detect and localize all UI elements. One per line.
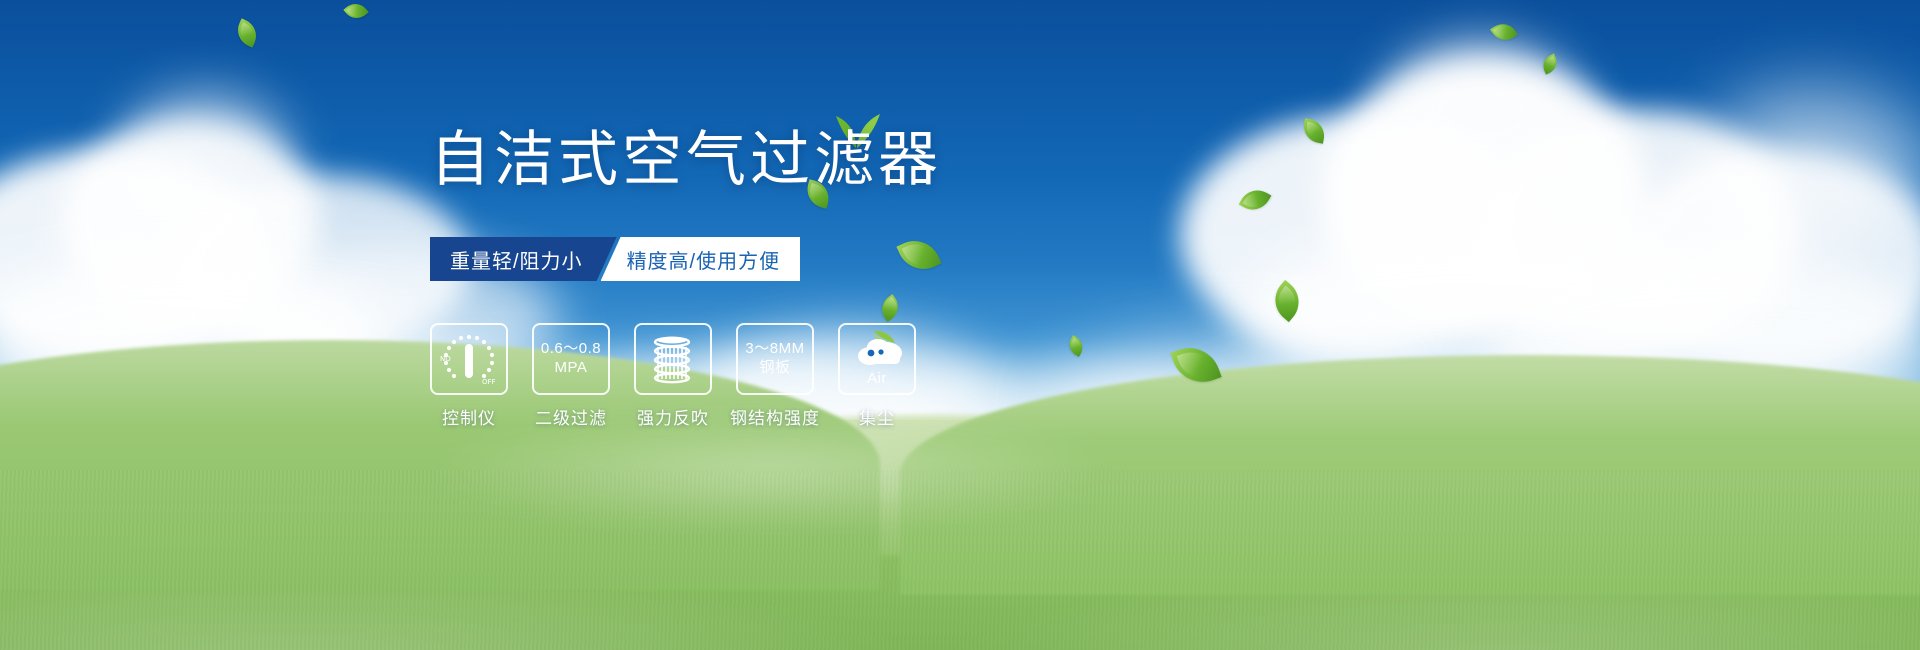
feature-box: 3～8MM 钢板 [736,323,814,395]
feature-list: NO OFF 控制仪 0.6～0.8 MPA 二级过滤 [430,323,916,429]
feature-item-controller[interactable]: NO OFF 控制仪 [430,323,508,429]
gauge-label-no: NO [440,355,451,363]
feature-box-line1: 3～8MM [745,340,804,359]
feature-caption: 强力反吹 [637,404,709,429]
banner-content: 自洁式空气过滤器 重量轻/阻力小 精度高/使用方便 [0,0,1920,650]
subtitle-tag-left: 重量轻/阻力小 [430,237,617,281]
feature-caption: 二级过滤 [535,404,607,429]
feature-item-backblow[interactable]: 强力反吹 [634,323,712,429]
subtitle-bar: 重量轻/阻力小 精度高/使用方便 [430,237,800,281]
feature-box-line2: MPA [555,359,588,378]
feature-box-line1: 0.6～0.8 [541,340,601,359]
feature-item-dust[interactable]: Air 集尘 [838,323,916,429]
feature-caption: 集尘 [859,404,895,429]
feature-caption: 钢结构强度 [730,404,820,429]
feature-box-line2: 钢板 [759,359,790,378]
feature-box: 0.6～0.8 MPA [532,323,610,395]
feature-box [634,323,712,395]
banner-stage: 自洁式空气过滤器 重量轻/阻力小 精度高/使用方便 [0,0,1920,650]
feature-item-pressure[interactable]: 0.6～0.8 MPA 二级过滤 [532,323,610,429]
cloud-air-icon [848,329,906,369]
feature-box-air-label: Air [867,370,887,389]
page-title: 自洁式空气过滤器 [430,130,942,190]
gauge-label-off: OFF [482,378,496,386]
gauge-dial-icon: NO OFF [438,330,500,388]
filter-cartridge-icon [648,331,698,387]
feature-caption: 控制仪 [442,404,496,429]
subtitle-tag-right: 精度高/使用方便 [601,237,801,281]
feature-box: NO OFF [430,323,508,395]
feature-item-steel[interactable]: 3～8MM 钢板 钢结构强度 [736,323,814,429]
feature-box: Air [838,323,916,395]
